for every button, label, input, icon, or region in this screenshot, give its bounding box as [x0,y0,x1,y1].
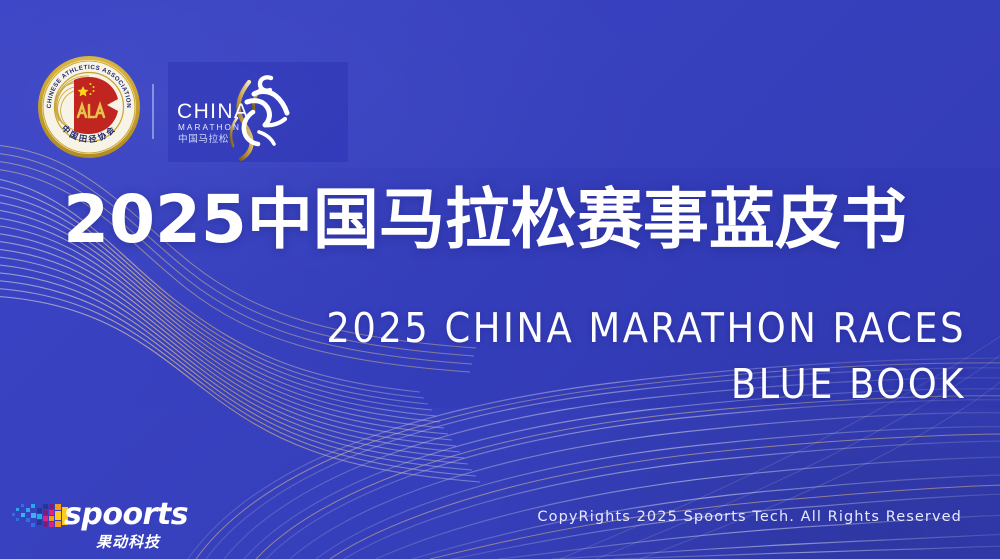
spoorts-wordmark: spoorts [64,499,188,531]
china-marathon-logo: CHINA MARATHON 中国马拉松 [175,68,315,163]
page-title-chinese: 2025中国马拉松赛事蓝皮书 [0,178,970,262]
marathon-logo-line1: CHINA [177,100,249,123]
page-title-english: 2025 CHINA MARATHON RACES BLUE BOOK [266,300,966,412]
spoorts-chinese-name: 果动科技 [96,531,160,552]
chinese-athletics-association-emblem: CHINESE ATHLETICS ASSOCIATION 中国田径协会 [37,55,141,159]
page-title-english-line1: 2025 CHINA MARATHON RACES [326,304,966,352]
vertical-divider [152,84,154,139]
spoorts-pixel-mark [12,504,70,528]
logo-band: CHINESE ATHLETICS ASSOCIATION 中国田径协会 [0,40,360,170]
report-cover-page: CHINESE ATHLETICS ASSOCIATION 中国田径协会 [0,0,1000,559]
marathon-logo-line3: 中国马拉松 [178,133,229,145]
copyright-notice: CopyRights 2025 Spoorts Tech. All Rights… [537,509,962,525]
spoorts-brand-logo: spoorts 果动科技 [12,503,187,551]
brand-row: spoorts [12,503,187,529]
page-title-english-line2: BLUE BOOK [266,356,966,412]
marathon-logo-line2: MARATHON [178,123,241,132]
